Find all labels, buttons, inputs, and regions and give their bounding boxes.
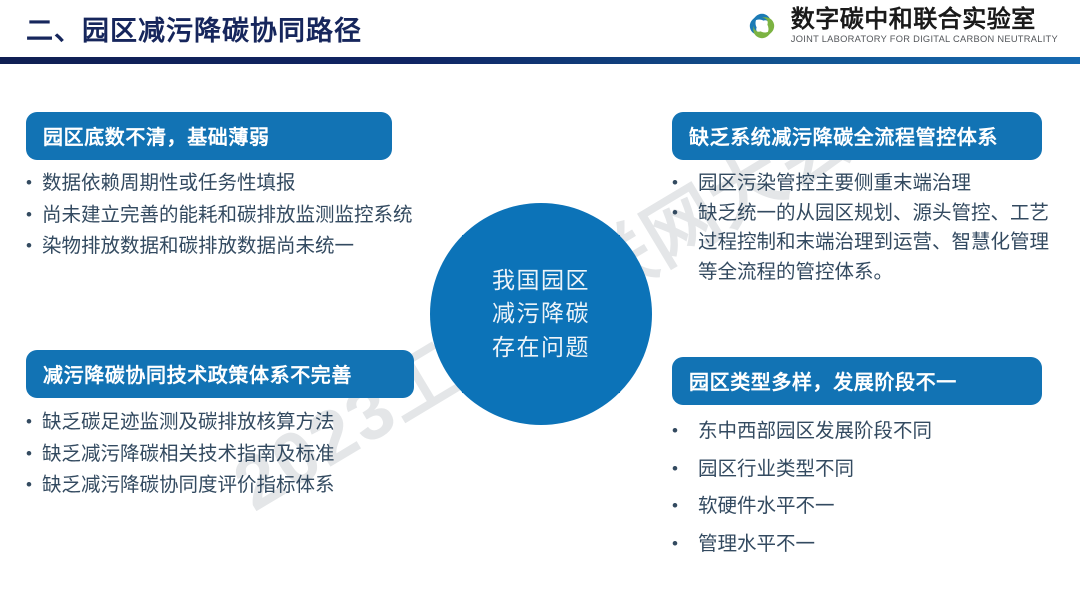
panel-bottom-left-heading: 减污降碳协同技术政策体系不完善 — [26, 350, 414, 398]
logo-english-name: JOINT LABORATORY FOR DIGITAL CARBON NEUT… — [791, 34, 1058, 45]
center-line-1: 我国园区 — [492, 264, 590, 297]
list-item-text: 东中西部园区发展阶段不同 — [698, 417, 1068, 447]
bullet-dot-icon: • — [26, 471, 42, 499]
panel-top-left-heading: 园区底数不清，基础薄弱 — [26, 112, 392, 160]
list-item: • 软硬件水平不一 — [672, 492, 1068, 522]
list-item-text: 园区行业类型不同 — [698, 455, 1068, 485]
list-item: • 缺乏统一的从园区规划、源头管控、工艺过程控制和末端治理到运营、智慧化管理等全… — [672, 199, 1068, 288]
list-item: • 染物排放数据和碳排放数据尚未统一 — [26, 232, 446, 262]
list-item: • 缺乏减污降碳协同度评价指标体系 — [26, 471, 446, 501]
list-item: • 缺乏碳足迹监测及碳排放核算方法 — [26, 408, 446, 438]
list-item-text: 缺乏减污降碳相关技术指南及标准 — [42, 440, 446, 470]
center-topic-badge: 我国园区 减污降碳 存在问题 — [430, 203, 652, 425]
list-item-text: 缺乏统一的从园区规划、源头管控、工艺过程控制和末端治理到运营、智慧化管理等全流程… — [698, 199, 1068, 288]
list-item-text: 缺乏减污降碳协同度评价指标体系 — [42, 471, 446, 501]
panel-bottom-right: 园区类型多样，发展阶段不一 • 东中西部园区发展阶段不同 • 园区行业类型不同 … — [672, 357, 1068, 568]
bullet-dot-icon: • — [672, 455, 698, 483]
bullet-dot-icon: • — [26, 169, 42, 197]
bullet-dot-icon: • — [26, 232, 42, 260]
logo-mark-icon — [742, 6, 782, 46]
bullet-dot-icon: • — [672, 530, 698, 558]
list-item: • 缺乏减污降碳相关技术指南及标准 — [26, 440, 446, 470]
bullet-dot-icon: • — [26, 201, 42, 229]
center-line-3: 存在问题 — [492, 331, 590, 364]
panel-top-right-body: • 园区污染管控主要侧重末端治理 • 缺乏统一的从园区规划、源头管控、工艺过程控… — [672, 169, 1068, 288]
bullet-dot-icon: • — [672, 199, 698, 227]
list-item-text: 数据依赖周期性或任务性填报 — [42, 169, 446, 199]
page-title: 二、园区减污降碳协同路径 — [26, 9, 362, 48]
center-badge-label: 我国园区 减污降碳 存在问题 — [430, 203, 652, 425]
slide-canvas: 2023工业互联网大会 二、园区减污降碳协同路径 数字碳中和联合实验室 JOIN… — [0, 0, 1080, 607]
bullet-dot-icon: • — [672, 417, 698, 445]
list-item: • 尚未建立完善的能耗和碳排放监测监控系统 — [26, 201, 446, 231]
bullet-dot-icon: • — [672, 169, 698, 197]
panel-bottom-right-body: • 东中西部园区发展阶段不同 • 园区行业类型不同 • 软硬件水平不一 • 管理… — [672, 417, 1068, 560]
bullet-dot-icon: • — [26, 408, 42, 436]
slide-header: 二、园区减污降碳协同路径 数字碳中和联合实验室 JOINT LABORATORY… — [0, 0, 1080, 64]
panel-top-right: 缺乏系统减污降碳全流程管控体系 • 园区污染管控主要侧重末端治理 • 缺乏统一的… — [672, 112, 1068, 288]
lab-logo: 数字碳中和联合实验室 JOINT LABORATORY FOR DIGITAL … — [742, 6, 1058, 46]
center-line-2: 减污降碳 — [492, 297, 590, 330]
list-item: • 管理水平不一 — [672, 530, 1068, 560]
list-item-text: 尚未建立完善的能耗和碳排放监测监控系统 — [42, 201, 446, 231]
panel-top-left-body: • 数据依赖周期性或任务性填报 • 尚未建立完善的能耗和碳排放监测监控系统 • … — [26, 169, 446, 262]
title-divider-rule — [0, 57, 1080, 64]
panel-top-right-heading: 缺乏系统减污降碳全流程管控体系 — [672, 112, 1042, 160]
panel-bottom-left: 减污降碳协同技术政策体系不完善 • 缺乏碳足迹监测及碳排放核算方法 • 缺乏减污… — [26, 350, 446, 503]
logo-chinese-name: 数字碳中和联合实验室 — [791, 7, 1036, 33]
logo-text-block: 数字碳中和联合实验室 JOINT LABORATORY FOR DIGITAL … — [791, 7, 1058, 45]
list-item-text: 软硬件水平不一 — [698, 492, 1068, 522]
panel-top-left: 园区底数不清，基础薄弱 • 数据依赖周期性或任务性填报 • 尚未建立完善的能耗和… — [26, 112, 446, 264]
list-item-text: 缺乏碳足迹监测及碳排放核算方法 — [42, 408, 446, 438]
list-item: • 园区污染管控主要侧重末端治理 — [672, 169, 1068, 199]
list-item-text: 管理水平不一 — [698, 530, 1068, 560]
list-item-text: 染物排放数据和碳排放数据尚未统一 — [42, 232, 446, 262]
panel-bottom-right-heading: 园区类型多样，发展阶段不一 — [672, 357, 1042, 405]
panel-bottom-left-body: • 缺乏碳足迹监测及碳排放核算方法 • 缺乏减污降碳相关技术指南及标准 • 缺乏… — [26, 408, 446, 501]
list-item: • 园区行业类型不同 — [672, 455, 1068, 485]
bullet-dot-icon: • — [672, 492, 698, 520]
list-item: • 东中西部园区发展阶段不同 — [672, 417, 1068, 447]
list-item: • 数据依赖周期性或任务性填报 — [26, 169, 446, 199]
list-item-text: 园区污染管控主要侧重末端治理 — [698, 169, 1068, 199]
bullet-dot-icon: • — [26, 440, 42, 468]
